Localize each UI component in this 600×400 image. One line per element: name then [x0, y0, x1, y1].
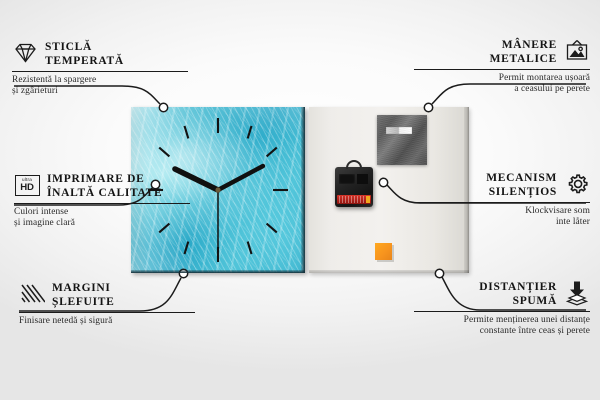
- mechanism-hanging-hook: [346, 160, 362, 169]
- callout-title: MECANISMSILENȚIOS: [486, 171, 557, 199]
- callout-rule: [12, 71, 188, 72]
- battery: [337, 195, 371, 204]
- clock-face: [131, 107, 305, 273]
- back-panel-shadow: [309, 270, 469, 273]
- clock-front-panel: [131, 107, 305, 273]
- callout-rule: [414, 69, 590, 70]
- callout-silent-mechanism: MECANISMSILENȚIOS Klockvisare sominte lå…: [414, 171, 590, 229]
- callout-foam-spacer: DISTANȚIERSPUMĂ Permite menținerea unei …: [414, 280, 590, 338]
- callout-subtitle: Klockvisare sominte låter: [414, 206, 590, 229]
- callout-title: DISTANȚIERSPUMĂ: [479, 280, 557, 308]
- clock-mechanism: [335, 167, 373, 207]
- callout-rule: [414, 311, 590, 312]
- hd-badge: ultra HD: [15, 175, 40, 196]
- metal-hanger-plate: [377, 115, 427, 165]
- callout-tempered-glass: STICLĂTEMPERATĂ Rezistentă la spargereși…: [12, 40, 188, 98]
- callout-title: MARGINIȘLEFUITE: [52, 281, 114, 309]
- callout-subtitle: Permite menținerea unei distanțeconstant…: [414, 315, 590, 338]
- callout-rule: [414, 202, 590, 203]
- glass-bottom-edge: [131, 270, 305, 273]
- ultra-hd-badge-icon: ultra HD: [14, 172, 40, 198]
- battery-label: [339, 196, 365, 203]
- diamond-icon: [12, 40, 38, 66]
- infographic-canvas: STICLĂTEMPERATĂ Rezistentă la spargereși…: [0, 0, 600, 400]
- diagonal-lines-icon: [19, 281, 45, 307]
- glass-right-edge: [301, 107, 305, 273]
- callout-polished-edges: MARGINIȘLEFUITE Finisare netedă și sigur…: [19, 281, 195, 327]
- hanging-picture-frame-icon: [564, 38, 590, 64]
- foam-spacer-pad: [375, 243, 392, 260]
- callout-subtitle: Permit montarea ușoarăa ceasului pe pere…: [414, 73, 590, 96]
- callout-rule: [19, 312, 195, 313]
- callout-metal-hangers: MÂNEREMETALICE Permit montarea ușoarăa c…: [414, 38, 590, 96]
- callout-title: STICLĂTEMPERATĂ: [45, 40, 124, 68]
- callout-subtitle: Rezistentă la spargereși zgârieturi: [12, 75, 188, 98]
- callout-subtitle: Finisare netedă și sigură: [19, 316, 195, 327]
- callout-title: MÂNEREMETALICE: [490, 38, 557, 66]
- press-down-arrow-icon: [564, 280, 590, 306]
- mechanism-slot-right: [357, 174, 368, 184]
- mechanism-slot-left: [339, 174, 355, 184]
- gear-icon: [564, 171, 590, 197]
